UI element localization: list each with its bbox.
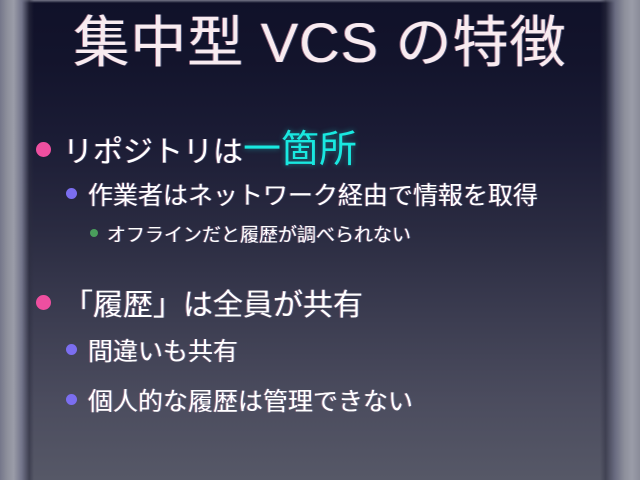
bullet-text: リポジトリは一箇所 xyxy=(63,118,357,173)
slide-bullet-list: リポジトリは一箇所 作業者はネットワーク経由で情報を取得 オフラインだと履歴が調… xyxy=(0,118,640,426)
bullet-text: オフラインだと履歴が調べられない xyxy=(107,220,411,247)
slide-title: 集中型 VCS の特徴 xyxy=(0,8,640,78)
bullet-item-level3: オフラインだと履歴が調べられない xyxy=(0,220,640,262)
presentation-slide: 集中型 VCS の特徴 リポジトリは一箇所 作業者はネットワーク経由で情報を取得… xyxy=(0,0,640,480)
bullet-dot-purple xyxy=(66,394,77,405)
bullet-item-level1: 「履歴」は全員が共有 xyxy=(0,280,640,332)
bullet-item-level1: リポジトリは一箇所 xyxy=(0,118,640,170)
bullet-dot-green xyxy=(90,229,98,237)
bullet-item-level2: 間違いも共有 xyxy=(0,332,640,376)
bullet-text: 個人的な履歴は管理できない xyxy=(88,382,413,418)
bullet-dot-purple xyxy=(66,344,77,355)
bullet-text: 「履歴」は全員が共有 xyxy=(63,280,363,324)
bullet-dot-purple xyxy=(66,188,77,199)
bullet-item-level2: 個人的な履歴は管理できない xyxy=(0,382,640,426)
bullet-text-plain: リポジトリは xyxy=(63,136,243,169)
bullet-dot-pink xyxy=(36,142,51,157)
bullet-text: 作業者はネットワーク経由で情報を取得 xyxy=(88,176,538,212)
bullet-text: 間違いも共有 xyxy=(88,332,238,368)
bullet-dot-pink xyxy=(36,295,51,310)
bullet-item-level2: 作業者はネットワーク経由で情報を取得 xyxy=(0,176,640,220)
bullet-text-highlight: 一箇所 xyxy=(243,129,357,171)
slide-top-sheen xyxy=(0,0,640,3)
